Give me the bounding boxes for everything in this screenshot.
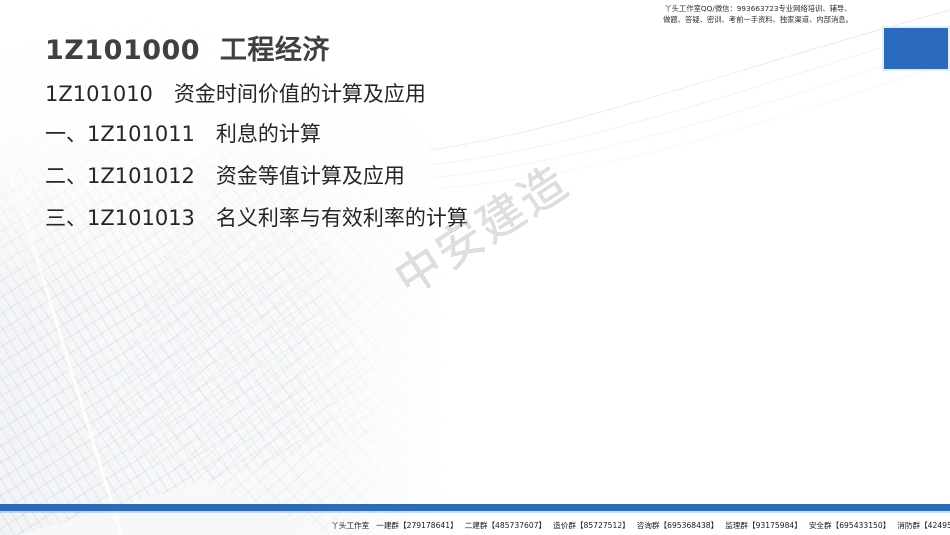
outline-item-1: 一、1Z101011 利息的计算: [45, 118, 321, 148]
footer-group-6: 消防群【424951862】: [897, 520, 950, 531]
footer-group-4-label: 监理群: [725, 521, 748, 530]
footer-group-2: 造价群【85727512】: [553, 520, 630, 531]
footer-group-3-label: 咨询群: [637, 521, 660, 530]
presentation-slide: 丫头工作室QQ/微信：993663723专业网络培训、辅导、 做题、答疑、密训、…: [0, 0, 950, 535]
footer-group-0: 一建群【279178641】: [376, 520, 457, 531]
footer-group-6-number: 【424951862】: [920, 521, 950, 530]
footer-group-3: 咨询群【695368438】: [637, 520, 718, 531]
slide-content: 1Z101000 工程经济 1Z101010 资金时间价值的计算及应用 一、1Z…: [0, 0, 950, 535]
footer-group-5: 安全群【695433150】: [809, 520, 890, 531]
footer-group-4-number: 【93175984】: [748, 521, 802, 530]
footer-group-2-number: 【85727512】: [576, 521, 630, 530]
footer-group-3-number: 【695368438】: [660, 521, 719, 530]
slide-subtitle: 1Z101010 资金时间价值的计算及应用: [45, 78, 426, 108]
footer-group-1: 二建群【485737607】: [465, 520, 546, 531]
footer-group-1-number: 【485737607】: [487, 521, 546, 530]
footer-group-0-label: 一建群: [376, 521, 399, 530]
bottom-accent-rule: [0, 504, 950, 511]
footer-group-5-number: 【695433150】: [832, 521, 891, 530]
outline-item-2: 二、1Z101012 资金等值计算及应用: [45, 160, 405, 190]
footer-group-5-label: 安全群: [809, 521, 832, 530]
footer-brand-label: 丫头工作室: [331, 520, 369, 531]
page-title: 1Z101000 工程经济: [45, 28, 330, 67]
footer-group-1-label: 二建群: [465, 521, 488, 530]
footer-contact-list: 丫头工作室 一建群【279178641】 二建群【485737607】 造价群【…: [331, 520, 950, 531]
footer-bar: 丫头工作室 一建群【279178641】 二建群【485737607】 造价群【…: [0, 515, 950, 535]
bottom-accent-rule-shadow: [0, 511, 950, 513]
footer-group-0-number: 【279178641】: [399, 521, 458, 530]
footer-group-6-label: 消防群: [897, 521, 920, 530]
outline-item-3: 三、1Z101013 名义利率与有效利率的计算: [45, 202, 468, 232]
footer-group-2-label: 造价群: [553, 521, 576, 530]
footer-group-4: 监理群【93175984】: [725, 520, 802, 531]
